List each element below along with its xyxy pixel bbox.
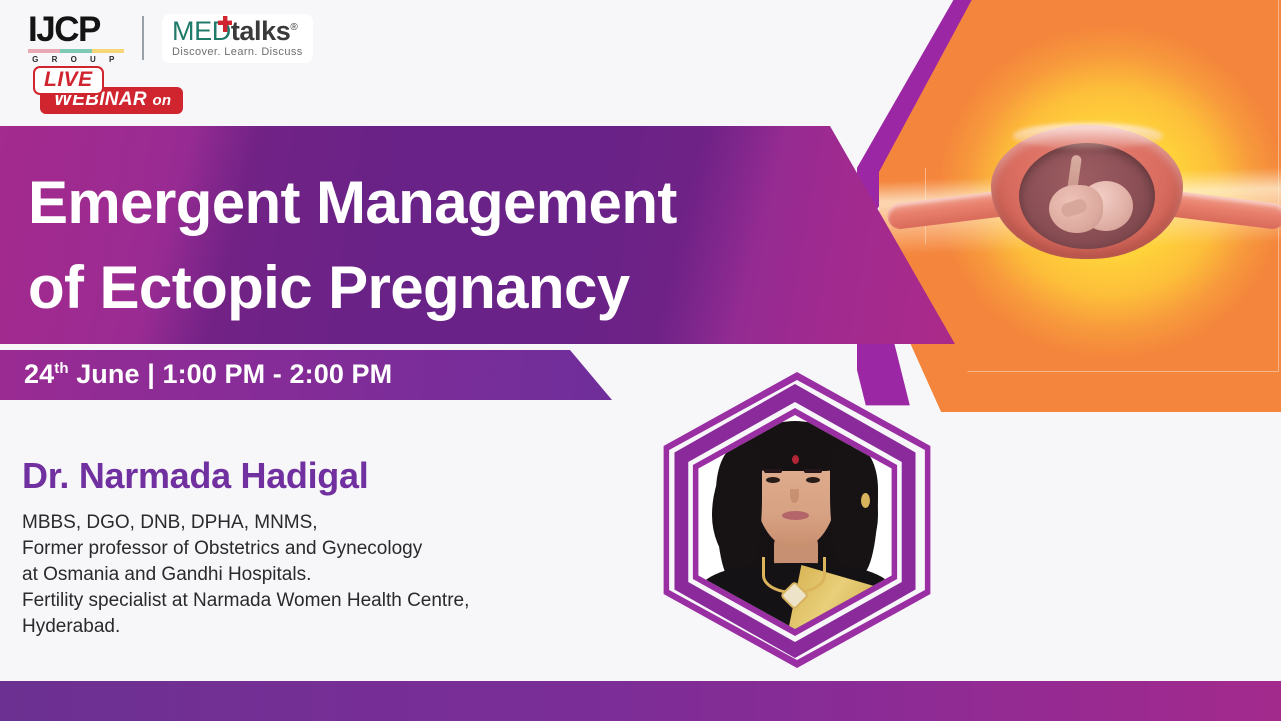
registered-mark: ® [290, 22, 297, 33]
uterus-illustration [879, 0, 1281, 412]
portrait-eye-left [766, 477, 780, 483]
portrait-earring [861, 493, 870, 508]
medtalks-logo[interactable]: MEDtalks® Discover. Learn. Discuss [162, 14, 313, 63]
schedule-rest: June | 1:00 PM - 2:00 PM [69, 359, 393, 389]
portrait-brow-left [764, 469, 782, 473]
schedule-day: 24 [24, 359, 54, 389]
logo-divider [142, 16, 144, 60]
webinar-poster: IJCP G R O U P MEDtalks® Discover. Learn… [0, 0, 1281, 721]
portrait-eye-right [806, 477, 820, 483]
ijcp-wordmark: IJCP [28, 12, 124, 47]
illustration-hexagon [849, 0, 1281, 422]
fetus [1043, 155, 1135, 241]
live-webinar-badge: WEBINAR on LIVE [30, 66, 180, 112]
live-label: LIVE [44, 69, 93, 91]
medtalks-talks-text: talks [231, 16, 291, 46]
title-banner: Emergent Management of Ectopic Pregnancy [0, 126, 955, 344]
uterus [991, 117, 1183, 267]
brand-logo-row: IJCP G R O U P MEDtalks® Discover. Learn… [28, 12, 313, 64]
portrait-brow-right [804, 469, 822, 473]
ijcp-logo[interactable]: IJCP G R O U P [28, 12, 124, 64]
footer-bar [0, 681, 1281, 721]
ijcp-subtitle: G R O U P [28, 55, 124, 64]
schedule-ordinal: th [54, 360, 68, 377]
speaker-photo-frame [636, 362, 952, 678]
portrait-mouth [782, 511, 809, 520]
medtalks-wordmark: MEDtalks® [172, 18, 303, 45]
on-label: on [152, 92, 171, 109]
schedule-banner: 24th June | 1:00 PM - 2:00 PM [0, 350, 612, 400]
speaker-name: Dr. Narmada Hadigal [22, 455, 368, 497]
portrait-nose [790, 489, 799, 503]
page-title: Emergent Management of Ectopic Pregnancy [28, 160, 677, 330]
live-pill: LIVE [33, 66, 104, 95]
ijcp-color-bars [28, 49, 124, 53]
schedule-text: 24th June | 1:00 PM - 2:00 PM [24, 359, 392, 390]
uterus-fundus-highlight [1013, 123, 1163, 149]
portrait-hair-left [716, 445, 762, 581]
medtalks-tagline: Discover. Learn. Discuss [172, 46, 303, 58]
speaker-credentials: MBBS, DGO, DNB, DPHA, MNMS, Former profe… [22, 510, 469, 640]
portrait-hair-right [830, 445, 878, 575]
portrait-bindi [792, 455, 799, 464]
